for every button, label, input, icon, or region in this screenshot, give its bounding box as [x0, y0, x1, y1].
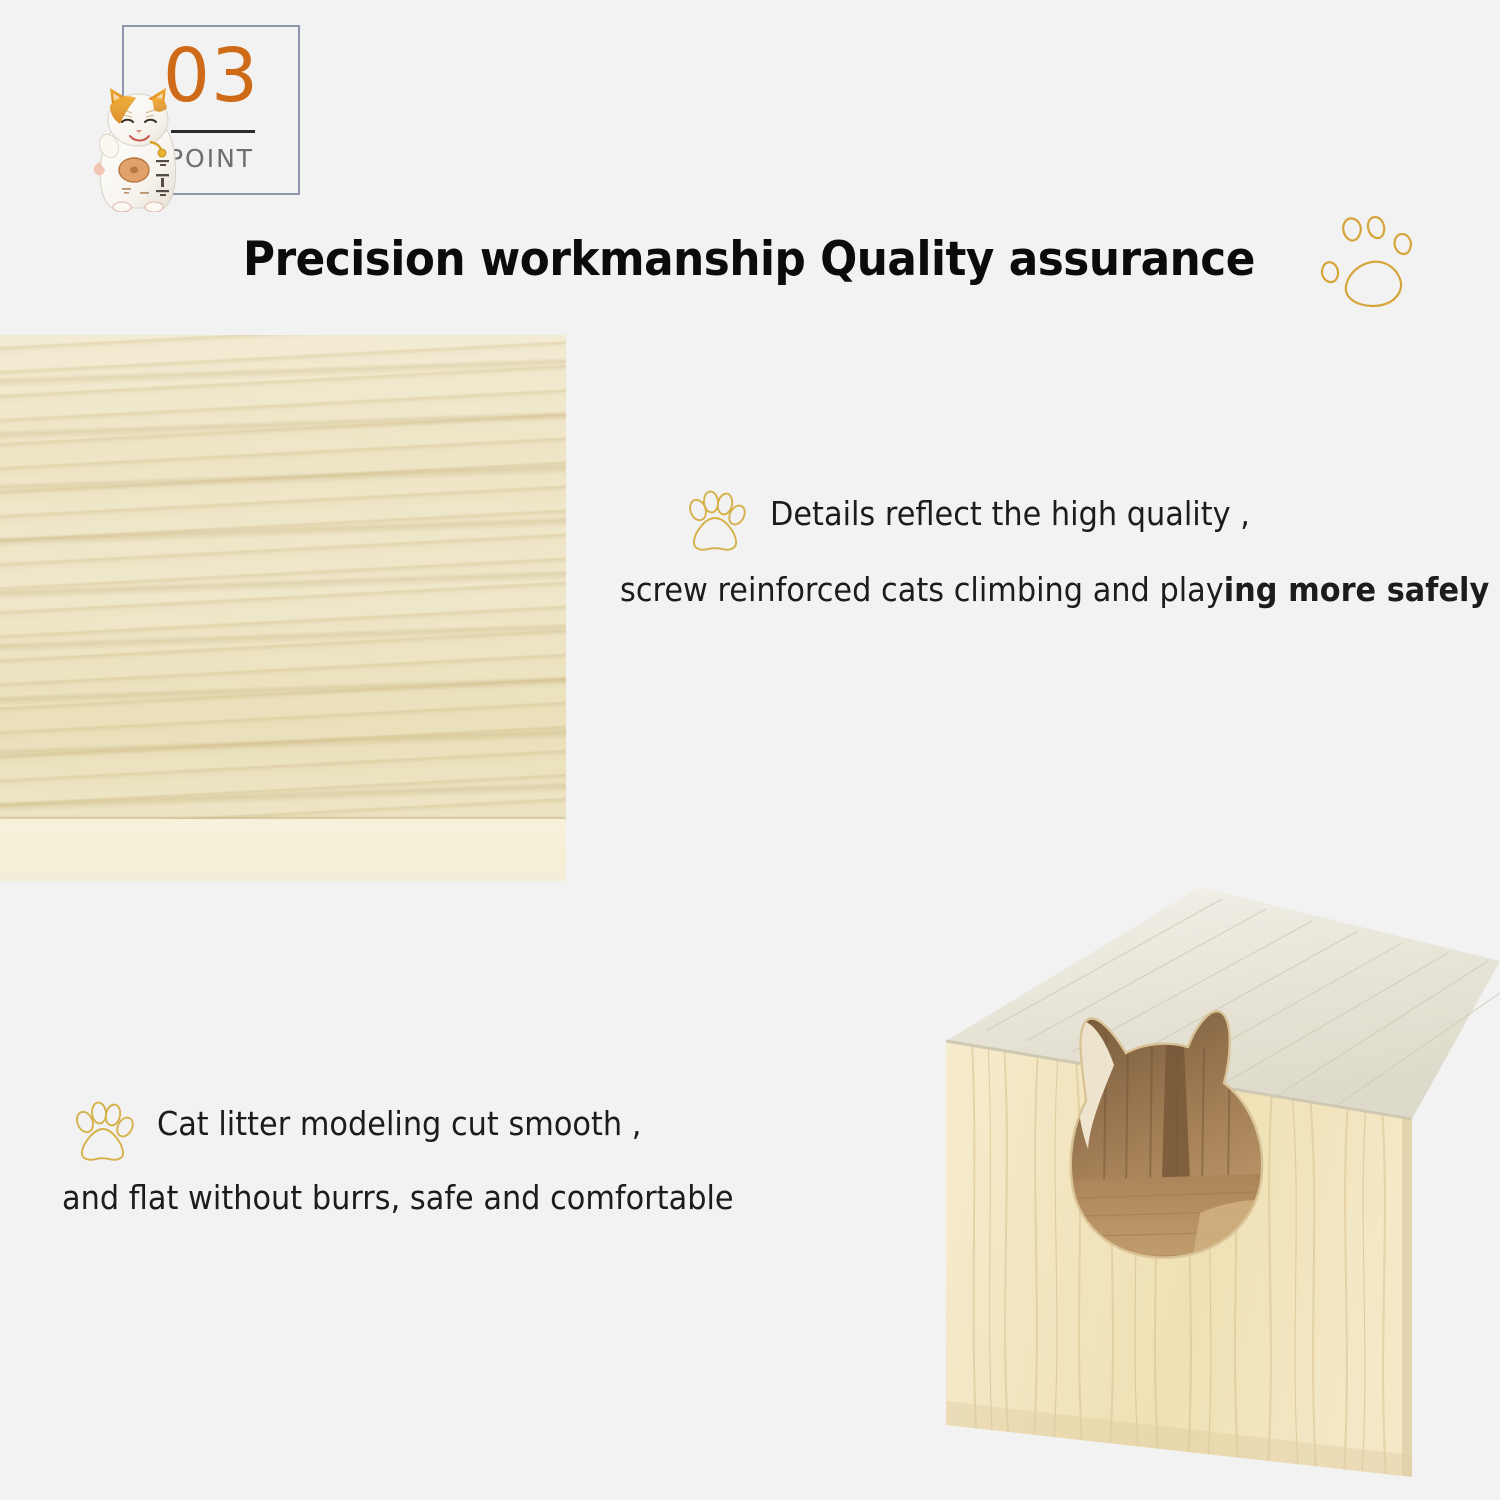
- wood-board-edge: [0, 819, 566, 881]
- cat-house-illustration: [900, 865, 1500, 1500]
- paw-print-icon: [70, 1100, 136, 1166]
- page-title: Precision workmanship Quality assurance: [243, 232, 1255, 287]
- front-right-edge: [1402, 1117, 1412, 1477]
- paw-print-icon: [1320, 216, 1428, 312]
- feature-line-2-regular: screw reinforced cats climbing and play: [620, 570, 1224, 609]
- maneki-neko-icon: [90, 80, 186, 212]
- feature-line-2-bold: ing more safely: [1224, 570, 1490, 609]
- wooden-cat-house-cutout-photo: [900, 865, 1500, 1500]
- paw-print-icon: [682, 490, 748, 556]
- feature-line-2: screw reinforced cats climbing and playi…: [620, 570, 1489, 609]
- feature-line-1: Details reflect the high quality ,: [770, 494, 1250, 533]
- feature-line-2: and flat without burrs, safe and comfort…: [62, 1178, 734, 1217]
- wood-board-with-screw-photo: [0, 335, 566, 881]
- wood-grain-surface: [0, 335, 566, 881]
- point-badge: 03 POINT: [40, 8, 320, 213]
- feature-line-1: Cat litter modeling cut smooth ,: [157, 1104, 641, 1143]
